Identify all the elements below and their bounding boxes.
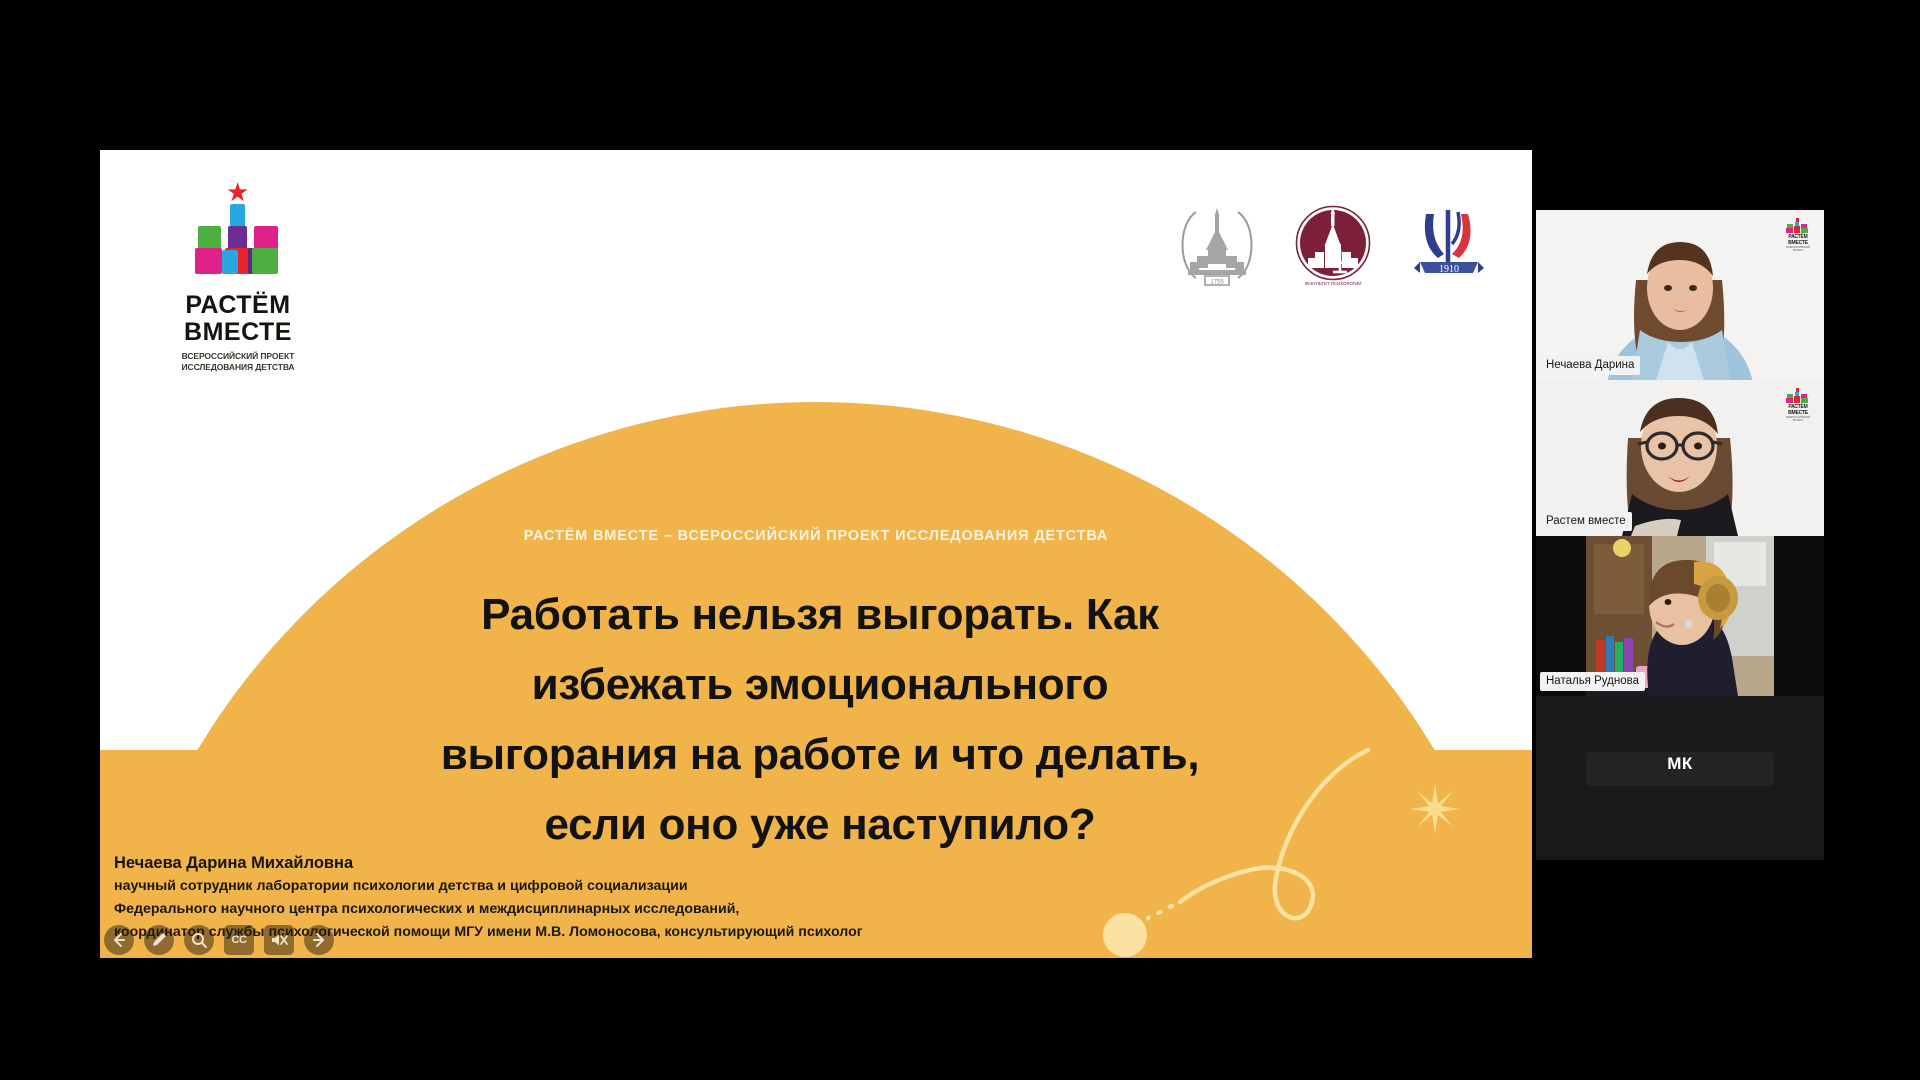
player-controls[interactable]: Назад Указка Увеличить CC Звук выключен … — [104, 925, 334, 955]
screen: ★ РАСТЁМ ВМЕСТЕ ВСЕРОССИЙСКИЙ ПРОЕКТ ИСС… — [0, 0, 1920, 1080]
faculty-of-psychology-emblem-icon: ФАКУЛЬТЕТ ПСИХОЛОГИИ — [1288, 200, 1378, 290]
participant-initials: МК — [1536, 754, 1824, 774]
watermark-logo: РАСТЁМ ВМЕСТЕ ВСЕРОССИЙСКИЙ ПРОЕКТ — [1781, 388, 1815, 423]
captions-label: CC — [232, 934, 247, 946]
slide-title-line-2: избежать эмоционального — [300, 650, 1340, 720]
slide-title-line-4: если оно уже наступило? — [300, 790, 1340, 860]
svg-text:1910: 1910 — [1439, 264, 1459, 275]
msu-emblem-icon: 1755 — [1172, 200, 1262, 290]
logo-word-1: РАСТЁМ — [158, 292, 318, 319]
logo-subtitle-2: ИССЛЕДОВАНИЯ ДЕТСТВА — [158, 362, 318, 373]
pointer-button[interactable]: Указка — [144, 925, 174, 955]
logo-subtitle-1: ВСЕРОССИЙСКИЙ ПРОЕКТ — [158, 351, 318, 362]
slide-title: Работать нельзя выгорать. Как избежать э… — [300, 580, 1340, 860]
slide-eyebrow: РАСТЁМ ВМЕСТЕ – ВСЕРОССИЙСКИЙ ПРОЕКТ ИСС… — [100, 528, 1532, 544]
participant-tile[interactable]: РАСТЁМ ВМЕСТЕ ВСЕРОССИЙСКИЙ ПРОЕКТ Нечае… — [1536, 210, 1824, 380]
participant-name-tag: Наталья Руднова — [1540, 672, 1645, 691]
partner-logos: 1755 — [1172, 200, 1494, 290]
slide-title-line-1: Работать нельзя выгорать. Как — [300, 580, 1340, 650]
decorative-sparkle-icon — [1408, 782, 1462, 836]
logo-word-2: ВМЕСТЕ — [158, 319, 318, 346]
watermark-logo: РАСТЁМ ВМЕСТЕ ВСЕРОССИЙСКИЙ ПРОЕКТ — [1781, 218, 1815, 253]
presenter-name: Нечаева Дарина Михайловна — [114, 851, 1114, 875]
participants-panel: РАСТЁМ ВМЕСТЕ ВСЕРОССИЙСКИЙ ПРОЕКТ Нечае… — [1536, 210, 1824, 860]
next-slide-button[interactable]: Вперёд — [304, 925, 334, 955]
psi-1910-emblem-icon: 1910 — [1404, 200, 1494, 290]
mute-button[interactable]: Звук выключен — [264, 925, 294, 955]
svg-text:ФАКУЛЬТЕТ ПСИХОЛОГИИ: ФАКУЛЬТЕТ ПСИХОЛОГИИ — [1305, 281, 1362, 286]
logo-blocks-icon: ★ — [178, 182, 298, 292]
slide-title-line-3: выгорания на работе и что делать, — [300, 720, 1340, 790]
shared-slide[interactable]: ★ РАСТЁМ ВМЕСТЕ ВСЕРОССИЙСКИЙ ПРОЕКТ ИСС… — [100, 150, 1532, 958]
participant-tile[interactable]: РАСТЁМ ВМЕСТЕ ВСЕРОССИЙСКИЙ ПРОЕКТ Расте… — [1536, 380, 1824, 536]
participant-tile[interactable]: Наталья Руднова — [1536, 536, 1824, 696]
rastem-vmeste-logo: ★ РАСТЁМ ВМЕСТЕ ВСЕРОССИЙСКИЙ ПРОЕКТ ИСС… — [158, 182, 318, 373]
previous-slide-button[interactable]: Назад — [104, 925, 134, 955]
participant-name-tag: Нечаева Дарина — [1540, 356, 1640, 375]
zoom-button[interactable]: Увеличить — [184, 925, 214, 955]
presenter-affiliation-2: Федерального научного центра психологиче… — [114, 898, 1114, 921]
participant-tile[interactable]: МК — [1536, 696, 1824, 860]
participant-name-tag: Растем вместе — [1540, 512, 1632, 531]
svg-text:1755: 1755 — [1210, 280, 1224, 286]
captions-button[interactable]: CC — [224, 925, 254, 955]
presenter-affiliation-1: научный сотрудник лаборатории психологии… — [114, 875, 1114, 898]
